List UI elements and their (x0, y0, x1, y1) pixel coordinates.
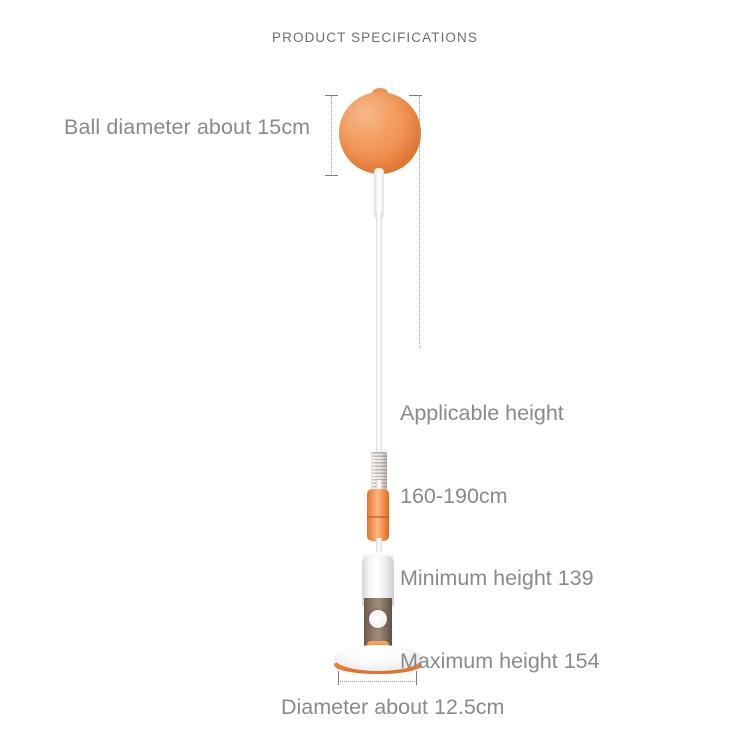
ball-dimension-guide-line (331, 96, 332, 176)
grip-collar-seam (367, 516, 389, 518)
ball-graphic (339, 92, 421, 174)
pole-upper-segment (374, 168, 384, 218)
height-spec-line-2: 160-190cm (400, 483, 600, 511)
lower-panel (364, 598, 392, 654)
height-dimension-tick-top (409, 95, 422, 96)
ball-dimension-tick-top (325, 95, 338, 96)
spring-graphic (371, 452, 387, 492)
ball-dimension-tick-bottom (325, 175, 338, 176)
specification-sheet: PRODUCT SPECIFICATIONS Ball diameter abo… (0, 0, 750, 750)
height-spec-line-3: Minimum height 139 (400, 565, 600, 593)
ball-diameter-label: Ball diameter about 15cm (64, 115, 310, 140)
height-spec-block: Applicable height 160-190cm Minimum heig… (400, 345, 600, 730)
base-diameter-label: Diameter about 12.5cm (281, 695, 504, 720)
height-spec-line-4: Maximum height 154 (400, 648, 600, 676)
collar-shaft-lower (376, 538, 382, 560)
product-illustration (0, 0, 750, 750)
ball-stem-nub (372, 88, 388, 98)
housing-cap (362, 552, 394, 562)
page-title: PRODUCT SPECIFICATIONS (0, 30, 750, 45)
grip-collar-graphic (367, 489, 389, 541)
panel-orange-clip (367, 641, 389, 654)
collar-shaft-upper (376, 480, 382, 492)
panel-hole (369, 610, 387, 628)
height-spec-line-1: Applicable height (400, 400, 600, 428)
base-dimension-tick-left (338, 671, 339, 685)
pole-shaft (376, 212, 382, 462)
height-dimension-guide-line (419, 96, 420, 348)
housing-body (362, 556, 394, 606)
